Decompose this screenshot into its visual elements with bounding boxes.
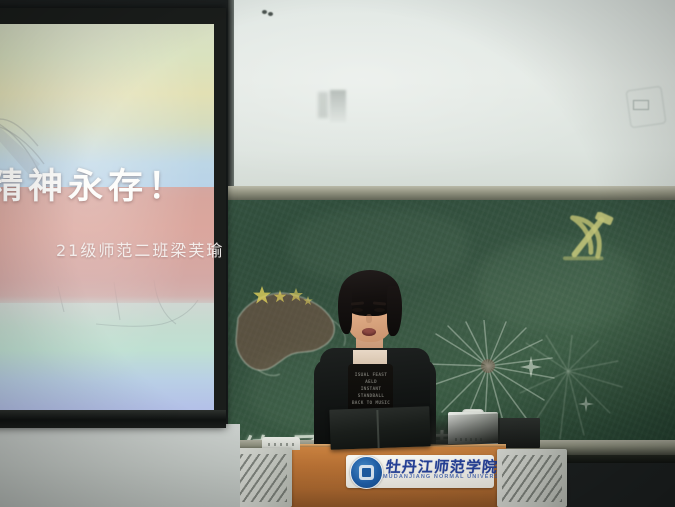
presenter-nose [366, 314, 372, 323]
presenter-hair-right [387, 286, 402, 336]
upper-whiteboard [228, 0, 675, 200]
yellow-stars-icon [252, 284, 316, 314]
presenter-hair-left [338, 286, 352, 334]
slide-title-text: 战精神永存！ [0, 158, 188, 209]
wall-speaker-left [232, 448, 292, 507]
mount-screw-icon [268, 12, 273, 16]
crest-mark [362, 468, 371, 477]
presentation-folder[interactable] [329, 406, 430, 449]
classroom-scene: 传承红色基因 书写华彩青春 西方语言学院 ISUAL FEAST AELD IN… [0, 0, 675, 507]
presenter-mouth [362, 328, 376, 336]
projector-screen[interactable] [0, 24, 214, 412]
whiteboard-left-edge [228, 0, 234, 200]
lower-wall [0, 424, 240, 507]
projector-screen-bottom-bar [0, 410, 226, 428]
slide-subtitle-text: 21级师范二班梁芙瑜 [56, 237, 224, 261]
speaker-left-indicator-dots [268, 443, 294, 446]
hammer-and-sickle-icon [559, 212, 617, 266]
wall-smudge [330, 90, 346, 122]
sparkle-icon [578, 396, 594, 412]
wall-mark-small [633, 100, 649, 110]
speaker-grille [237, 454, 287, 502]
wall-speaker-right [497, 449, 567, 507]
presenter-shirt-print: ISUAL FEAST AELD INSTANT STANDBALL BACK … [350, 372, 392, 406]
green-chalkboard: 传承红色基因 书写华彩青春 西方语言学院 [228, 200, 675, 448]
wall-smudge-secondary [318, 92, 328, 118]
speaker-grille [502, 455, 562, 502]
presenter-eye-left [352, 308, 363, 312]
presenter-eye-right [374, 308, 385, 312]
university-name-en: MUDANJIANG NORMAL UNIVERSITY [383, 474, 511, 480]
sparkle-icon [520, 356, 542, 378]
mount-screw-icon [262, 10, 267, 14]
university-crest-logo [350, 456, 383, 489]
